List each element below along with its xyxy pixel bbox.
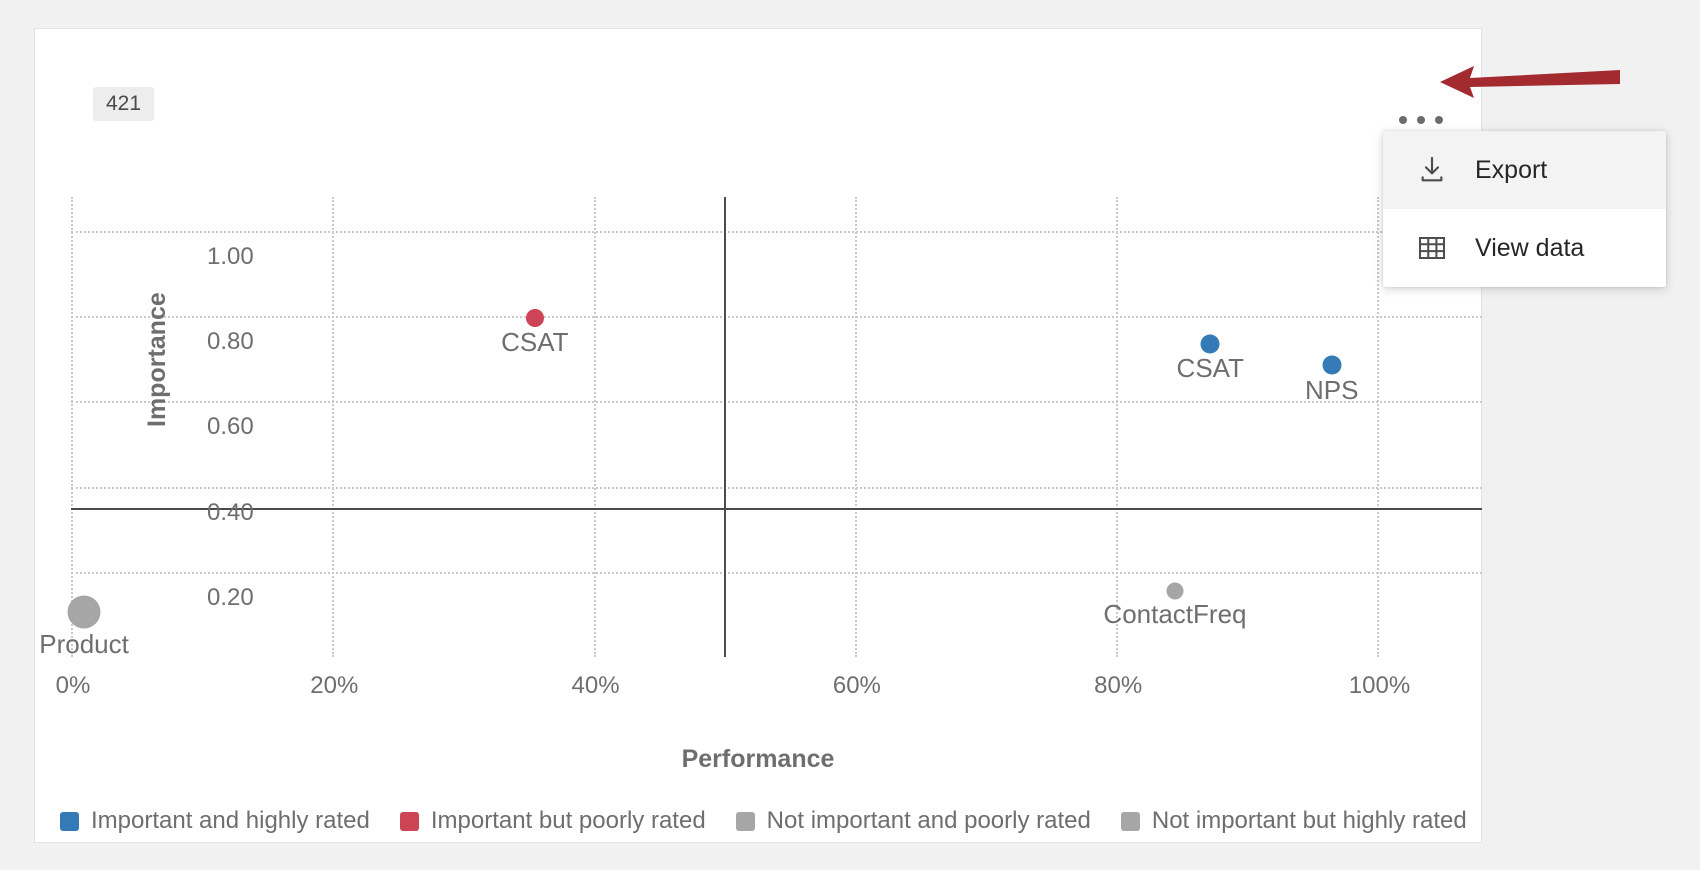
- menu-item-view-data[interactable]: View data: [1383, 209, 1666, 287]
- legend-swatch-icon: [60, 812, 79, 831]
- y-axis-tick: 1.00: [207, 245, 254, 269]
- scatter-point[interactable]: [1166, 582, 1183, 599]
- scatter-point-label: ContactFreq: [1103, 601, 1246, 627]
- gridline-vertical: [71, 197, 73, 657]
- legend-item[interactable]: Not important but highly rated: [1121, 809, 1467, 833]
- gridline-vertical: [1377, 197, 1379, 657]
- gridline-horizontal: [71, 572, 1482, 574]
- scatter-point[interactable]: [1322, 356, 1341, 375]
- menu-item-export[interactable]: Export: [1383, 131, 1666, 209]
- legend-swatch-icon: [1121, 812, 1140, 831]
- gridline-horizontal: [71, 401, 1482, 403]
- kebab-dot-icon: [1435, 116, 1443, 124]
- scatter-point-label: CSAT: [1177, 355, 1244, 381]
- quadrant-divider-vertical: [724, 197, 726, 657]
- y-axis-title: Importance: [143, 292, 172, 427]
- legend-swatch-icon: [736, 812, 755, 831]
- legend-item[interactable]: Not important and poorly rated: [736, 809, 1091, 833]
- x-axis-tick: 60%: [833, 674, 881, 698]
- kebab-dot-icon: [1417, 116, 1425, 124]
- x-axis-title: Performance: [35, 745, 1481, 774]
- download-icon: [1415, 153, 1449, 187]
- y-axis-tick: 0.20: [207, 586, 254, 610]
- gridline-horizontal: [71, 487, 1482, 489]
- gridline-horizontal: [71, 231, 1482, 233]
- quadrant-divider-horizontal: [71, 508, 1482, 510]
- scatter-point[interactable]: [1201, 334, 1220, 353]
- gridline-vertical: [594, 197, 596, 657]
- legend-item[interactable]: Important but poorly rated: [400, 809, 706, 833]
- scatter-point-label: NPS: [1305, 377, 1358, 403]
- scatter-point[interactable]: [526, 309, 544, 327]
- gridline-vertical: [332, 197, 334, 657]
- record-count-badge: 421: [93, 87, 154, 121]
- scatter-point[interactable]: [68, 596, 101, 629]
- x-axis-tick: 100%: [1349, 674, 1410, 698]
- chart-context-menu: ExportView data: [1383, 131, 1666, 287]
- legend-label: Not important and poorly rated: [767, 809, 1091, 833]
- scatter-plot-area: CSATCSATNPSContactFreqProduct: [71, 197, 1482, 657]
- x-axis-tick: 20%: [310, 674, 358, 698]
- legend-label: Not important but highly rated: [1152, 809, 1467, 833]
- y-axis-tick: 0.80: [207, 330, 254, 354]
- gridline-vertical: [1116, 197, 1118, 657]
- legend-label: Important but poorly rated: [431, 809, 706, 833]
- scatter-point-label: Product: [39, 631, 129, 657]
- legend-item[interactable]: Important and highly rated: [60, 809, 370, 833]
- y-axis-tick: 0.60: [207, 415, 254, 439]
- gridline-vertical: [855, 197, 857, 657]
- menu-item-label: View data: [1475, 234, 1584, 263]
- chart-card: 421 CSATCSATNPSContactFreqProduct 0.200.…: [34, 28, 1482, 843]
- kebab-dot-icon: [1399, 116, 1407, 124]
- table-icon: [1415, 231, 1449, 265]
- chart-legend: Important and highly ratedImportant but …: [60, 809, 1497, 833]
- x-axis-tick: 40%: [572, 674, 620, 698]
- x-axis-tick: 80%: [1094, 674, 1142, 698]
- more-options-button[interactable]: [1399, 107, 1443, 133]
- y-axis-tick: 0.40: [207, 501, 254, 525]
- legend-swatch-icon: [400, 812, 419, 831]
- gridline-horizontal: [71, 316, 1482, 318]
- x-axis-tick: 0%: [56, 674, 91, 698]
- scatter-point-label: CSAT: [501, 329, 568, 355]
- legend-label: Important and highly rated: [91, 809, 370, 833]
- menu-item-label: Export: [1475, 156, 1547, 185]
